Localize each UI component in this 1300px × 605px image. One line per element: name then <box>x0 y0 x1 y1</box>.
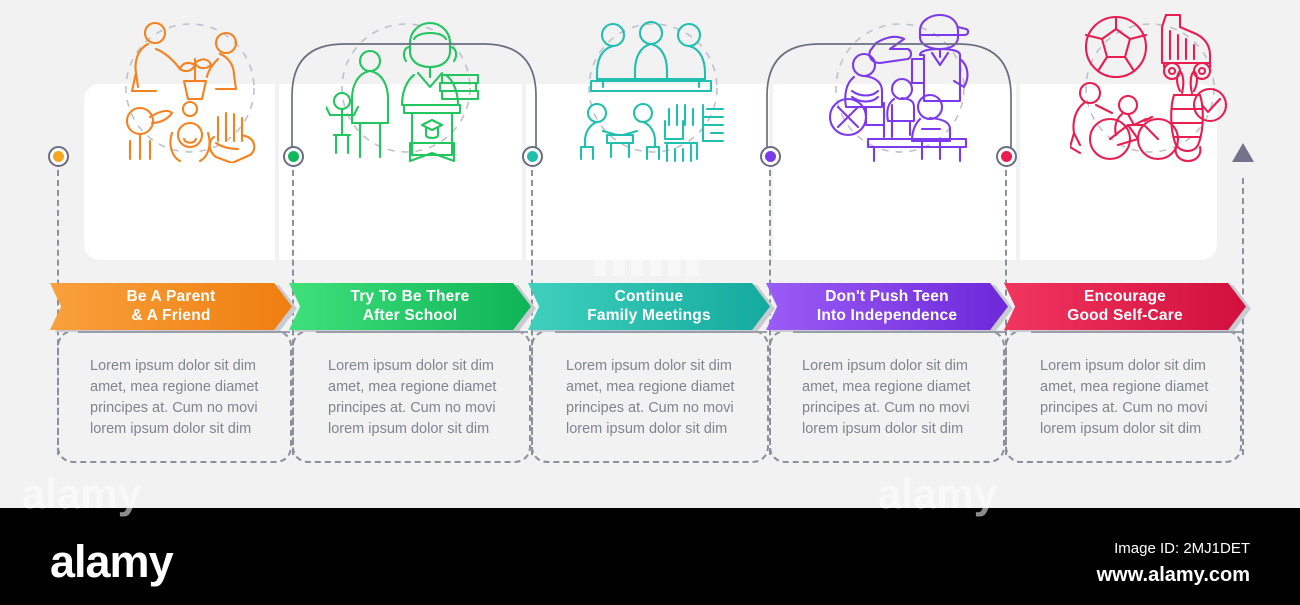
step-title-3-line2: Family Meetings <box>587 307 711 326</box>
step-title-2-line2: After School <box>351 307 470 326</box>
step-banner-5[interactable]: Encourage Good Self-Care <box>1004 283 1246 330</box>
step-banner-1[interactable]: Be A Parent & A Friend <box>50 283 292 330</box>
footer-logo: alamy <box>50 536 173 588</box>
banner-underline-5 <box>1031 331 1243 333</box>
step-marker-3-fill <box>527 151 538 162</box>
step-description-1: Lorem ipsum dolor sit dim amet, mea regi… <box>90 356 280 440</box>
step-title-4-line2: Into Independence <box>817 307 957 326</box>
step-marker-5[interactable] <box>996 146 1017 167</box>
connector-arc-2 <box>761 38 1017 163</box>
footer-bar: alamy Image ID: 2MJ1DET www.alamy.com <box>0 508 1300 605</box>
timeline-end-arrow-icon <box>1232 143 1254 162</box>
step-description-2: Lorem ipsum dolor sit dim amet, mea regi… <box>328 356 518 440</box>
step-marker-1[interactable] <box>48 146 69 167</box>
step-title-5-line2: Good Self-Care <box>1067 307 1183 326</box>
step-description-5: Lorem ipsum dolor sit dim amet, mea regi… <box>1040 356 1230 440</box>
step-title-2-line1: Try To Be There <box>351 288 470 307</box>
step-title-1-line1: Be A Parent <box>127 288 216 307</box>
step-marker-5-fill <box>1001 151 1012 162</box>
banner-underline-3 <box>555 331 767 333</box>
footer-website[interactable]: www.alamy.com <box>1097 564 1250 587</box>
step-banner-2[interactable]: Try To Be There After School <box>289 283 531 330</box>
step-marker-2[interactable] <box>283 146 304 167</box>
step-title-1-line2: & A Friend <box>127 307 216 326</box>
step-marker-2-fill <box>288 151 299 162</box>
banner-underline-1 <box>78 331 290 333</box>
footer-image-id: Image ID: 2MJ1DET <box>1114 540 1250 557</box>
step-marker-4-fill <box>765 151 776 162</box>
watermark-blocks: ▮▮▮▮▮▮ <box>592 245 703 280</box>
step-marker-4[interactable] <box>760 146 781 167</box>
icon-slot-3 <box>535 0 771 176</box>
icon-slot-1 <box>72 0 308 176</box>
step-banner-3[interactable]: Continue Family Meetings <box>528 283 770 330</box>
step-title-4-line1: Don't Push Teen <box>817 288 957 307</box>
banner-underline-2 <box>316 331 528 333</box>
step-description-3: Lorem ipsum dolor sit dim amet, mea regi… <box>566 356 756 440</box>
parent-planting-icon <box>110 13 270 163</box>
step-marker-1-fill <box>53 151 64 162</box>
step-title-5-line1: Encourage <box>1067 288 1183 307</box>
banner-underline-4 <box>793 331 1005 333</box>
self-care-activities-icon <box>1070 13 1230 163</box>
infographic-canvas: Be A Parent & A Friend Try To Be There A… <box>0 0 1300 508</box>
step-title-3-line1: Continue <box>587 288 711 307</box>
step-marker-3[interactable] <box>522 146 543 167</box>
step-banner-4[interactable]: Don't Push Teen Into Independence <box>766 283 1008 330</box>
connector-arc-1 <box>286 38 542 163</box>
step-description-4: Lorem ipsum dolor sit dim amet, mea regi… <box>802 356 992 440</box>
family-meeting-icon <box>573 13 733 163</box>
